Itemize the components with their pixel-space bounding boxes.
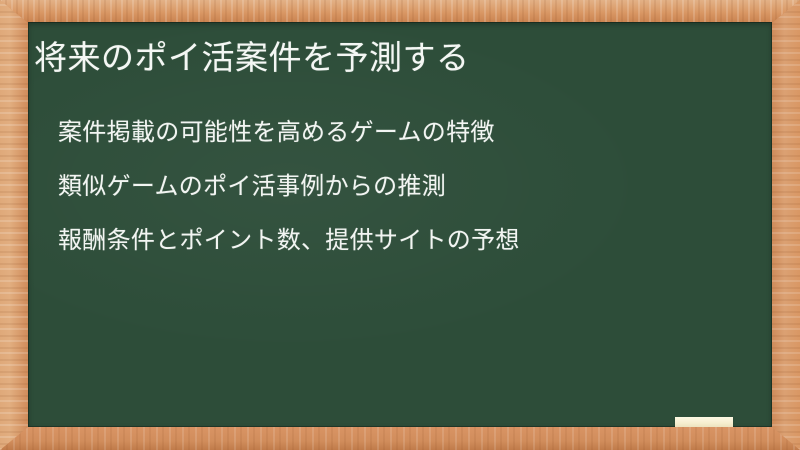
chalk-stick-icon [675,417,733,427]
slide-bullet-item: 報酬条件とポイント数、提供サイトの予想 [58,214,520,268]
slide-bullet-item: 類似ゲームのポイ活事例からの推測 [58,160,520,214]
frame-plank-left [0,0,28,450]
slide-bullet-item: 案件掲載の可能性を高めるゲームの特徴 [58,106,520,160]
slide-title: 将来のポイ活案件を予測する [34,35,470,81]
chalkboard-slide: 将来のポイ活案件を予測する 案件掲載の可能性を高めるゲームの特徴 類似ゲームのポ… [0,0,800,450]
frame-plank-bottom [0,427,800,450]
frame-plank-right [772,0,800,450]
slide-bullet-list: 案件掲載の可能性を高めるゲームの特徴 類似ゲームのポイ活事例からの推測 報酬条件… [58,106,520,268]
chalkboard-surface: 将来のポイ活案件を予測する 案件掲載の可能性を高めるゲームの特徴 類似ゲームのポ… [28,22,772,427]
frame-plank-top [0,0,800,23]
